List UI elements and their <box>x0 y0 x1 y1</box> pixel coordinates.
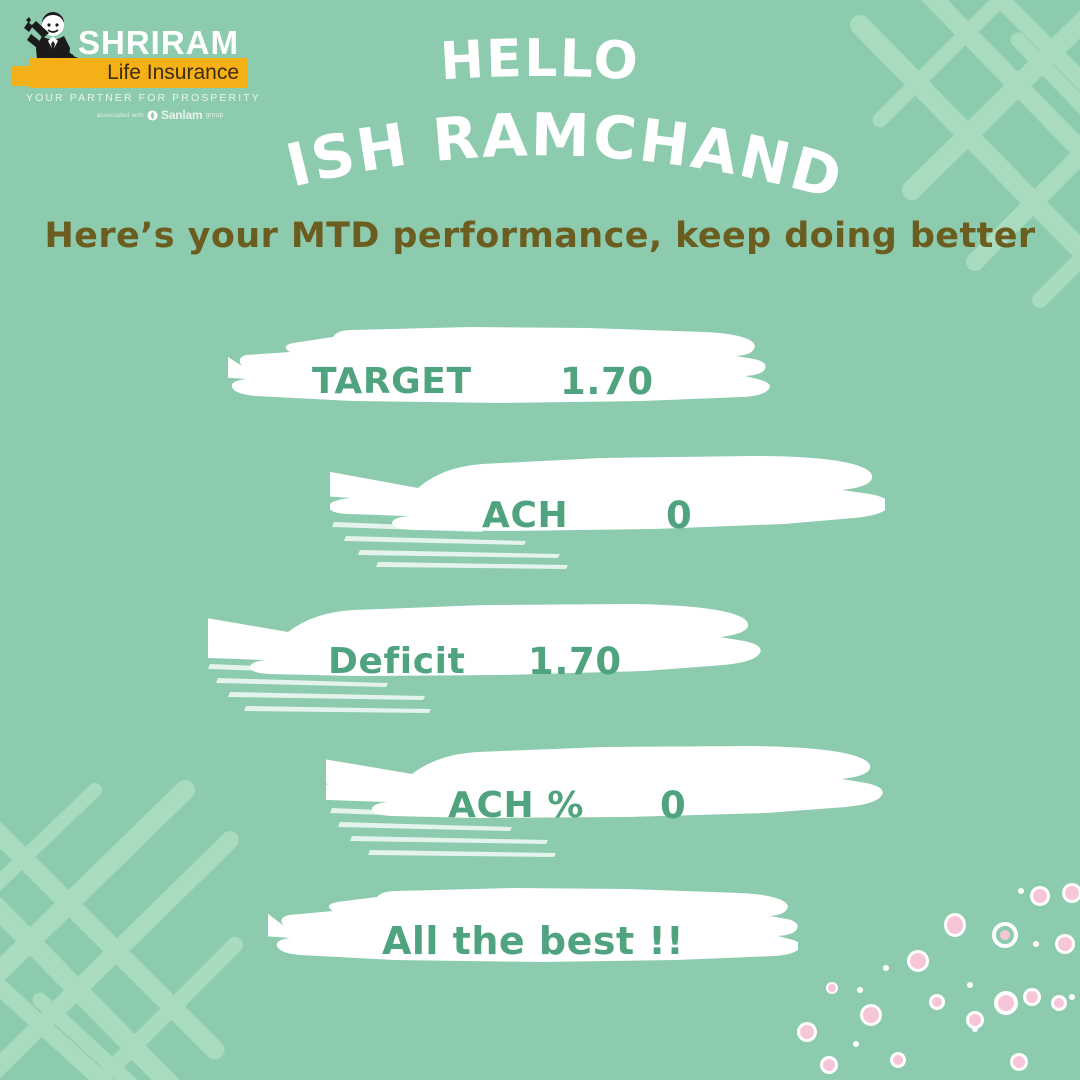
greeting-block: HELLO ASHISH RAMCHANDRA <box>0 18 1080 218</box>
metric-value: 0 <box>660 742 686 868</box>
metric-row-ach: ACH 0 <box>330 452 885 578</box>
metric-row-target: TARGET 1.70 <box>228 322 776 440</box>
metric-value: 1.70 <box>560 322 654 440</box>
metric-value: 0 <box>666 452 692 578</box>
performance-subtitle: Here’s your MTD performance, keep doing … <box>0 216 1080 256</box>
closing-message-row: All the best !! <box>268 886 798 996</box>
brush-stroke-shape <box>208 598 768 724</box>
confetti-dots-group <box>797 883 1080 1074</box>
metric-label: ACH % <box>448 742 584 868</box>
brush-stroke-shape <box>330 452 885 578</box>
greeting-svg: HELLO ASHISH RAMCHANDRA <box>0 18 1080 218</box>
greeting-hello: HELLO <box>439 29 642 92</box>
metric-value: 1.70 <box>528 598 622 724</box>
performance-greeting-poster: SHRIRAM Life Insurance YOUR PARTNER FOR … <box>0 0 1080 1080</box>
closing-message: All the best !! <box>268 886 798 996</box>
metric-label: Deficit <box>328 598 465 724</box>
metric-row-deficit: Deficit 1.70 <box>208 598 768 724</box>
brush-stroke-shape <box>228 322 776 440</box>
metric-row-ach-percent: ACH % 0 <box>326 742 886 868</box>
recipient-name: ASHISH RAMCHANDRA <box>0 0 851 213</box>
metric-label: ACH <box>482 452 568 578</box>
brush-stroke-shape <box>326 742 886 868</box>
metric-label: TARGET <box>312 322 472 440</box>
